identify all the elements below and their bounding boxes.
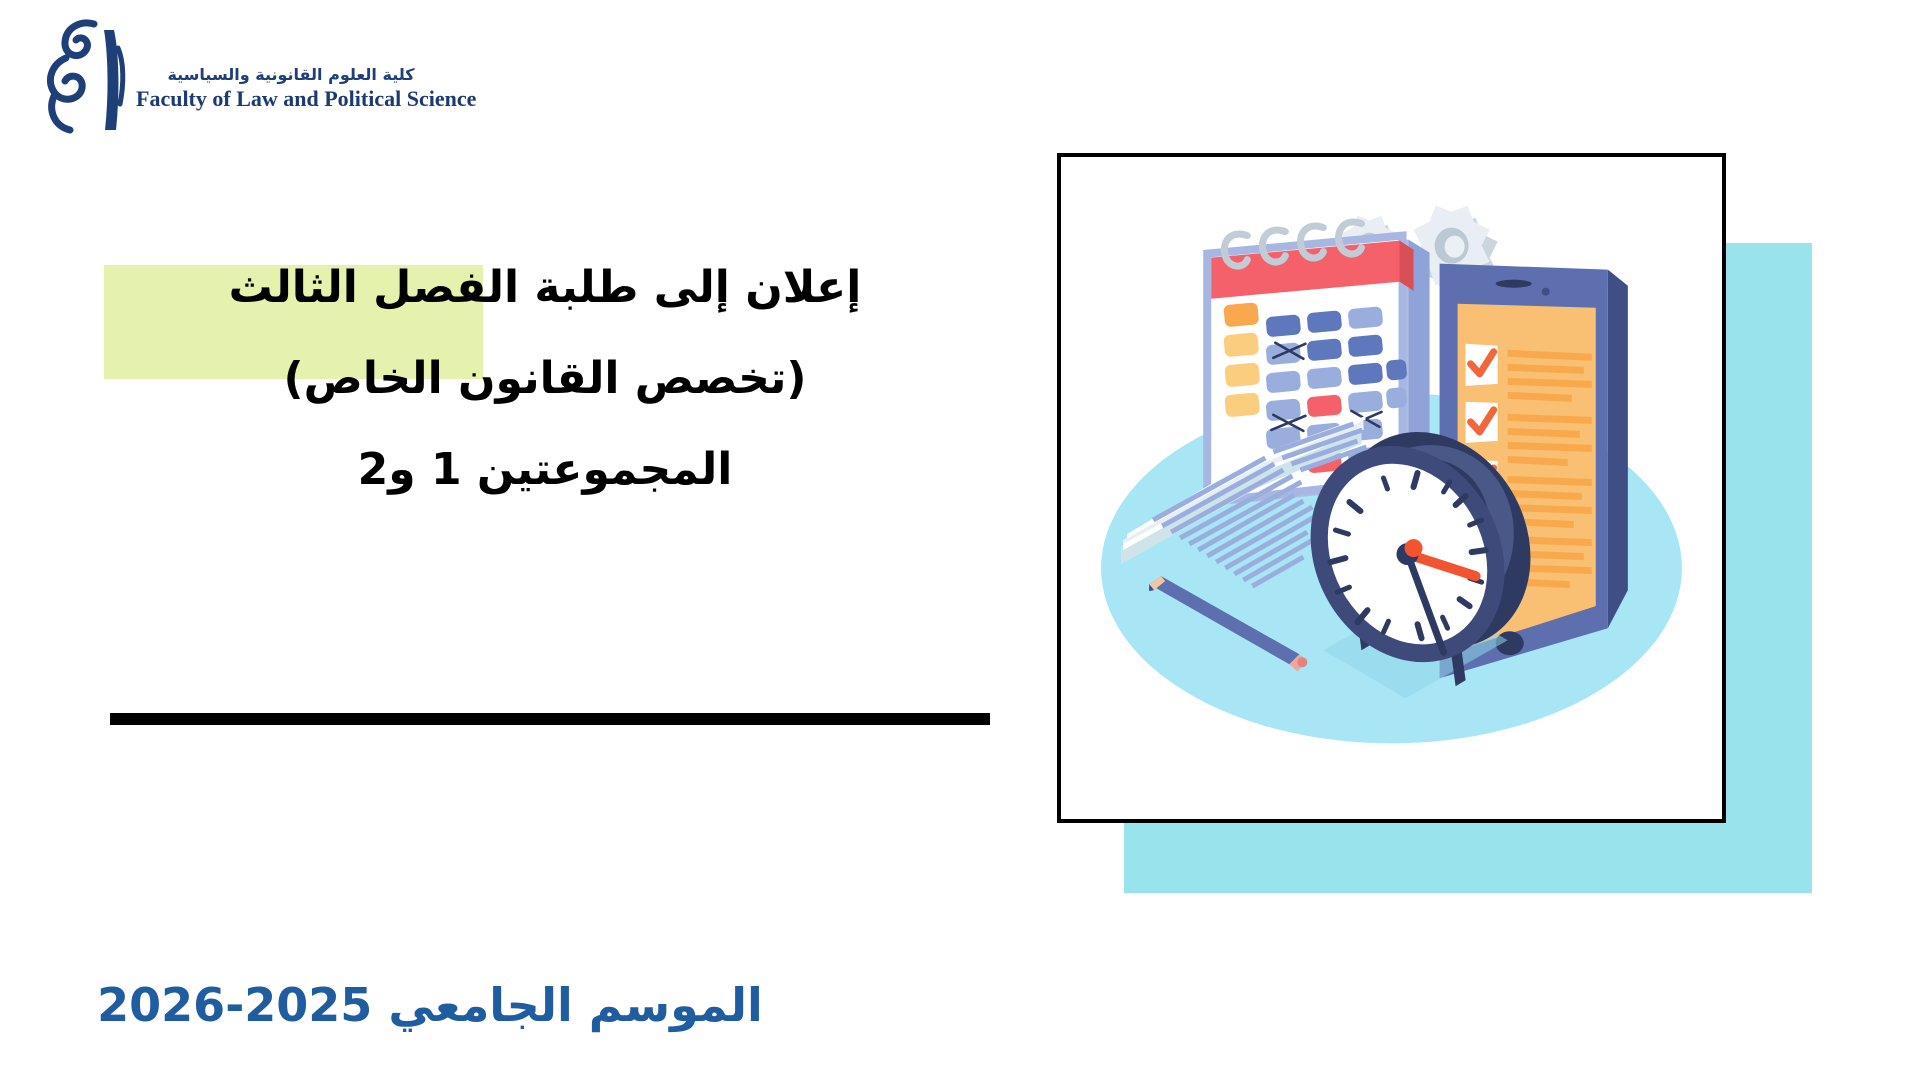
tablet-camera — [1542, 288, 1550, 296]
horizontal-divider — [110, 713, 990, 725]
faculty-logo-text: كلية العلوم القانونية والسياسية Faculty … — [136, 66, 446, 113]
faculty-logo: كلية العلوم القانونية والسياسية Faculty … — [24, 18, 454, 138]
illustration-frame — [1057, 153, 1726, 823]
tablet-speaker — [1496, 280, 1532, 288]
faculty-logo-mark-icon — [32, 18, 140, 136]
illustration-area — [1050, 145, 1840, 915]
announcement-headline: إعلان إلى طلبة الفصل الثالث (تخصص القانو… — [175, 242, 915, 515]
headline-line-2: (تخصص القانون الخاص) — [175, 333, 915, 424]
academic-year-footer: الموسم الجامعي 2025-2026 — [60, 975, 800, 1035]
headline-line-1: إعلان إلى طلبة الفصل الثالث — [175, 242, 915, 333]
headline-line-3: المجموعتين 1 و2 — [175, 424, 915, 515]
faculty-name-english: Faculty of Law and Political Science — [136, 86, 446, 112]
faculty-name-arabic: كلية العلوم القانونية والسياسية — [136, 66, 446, 84]
